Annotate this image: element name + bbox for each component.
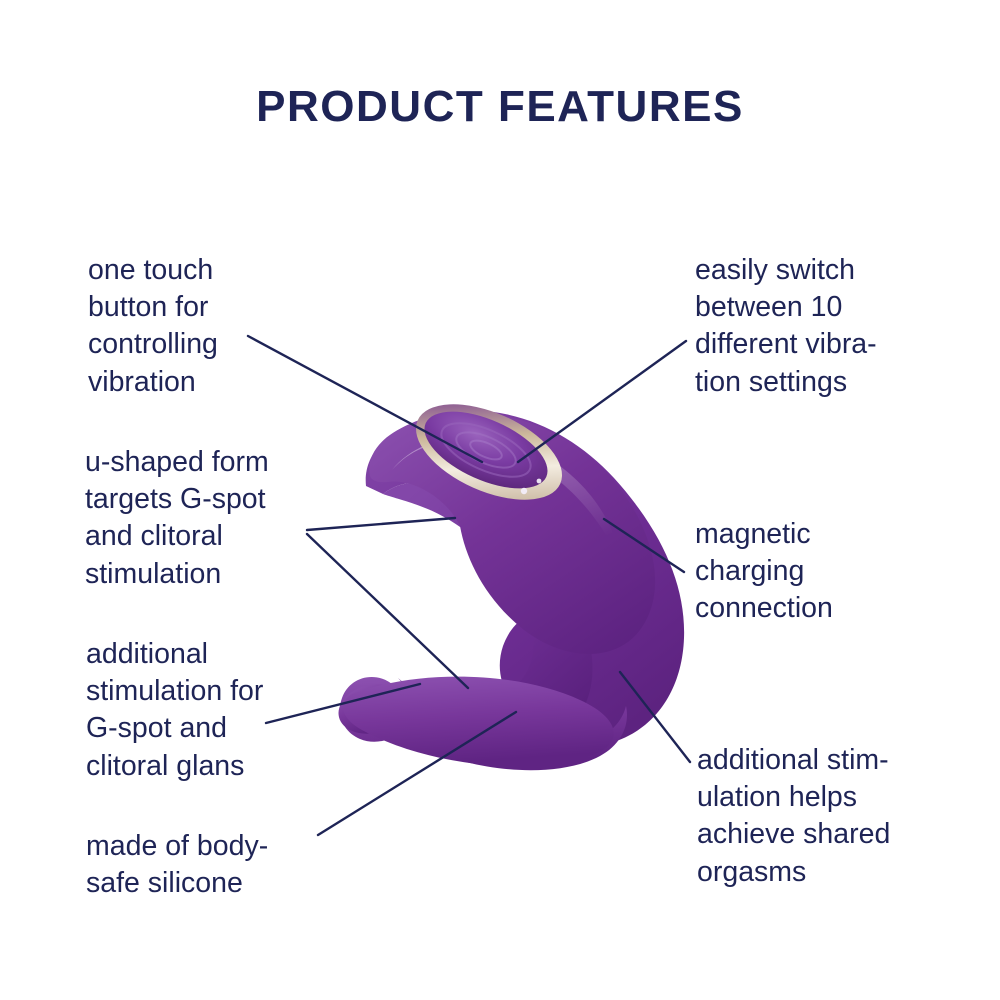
lower-arm-body: [343, 677, 614, 767]
callout-shared-orgasms: additional stim- ulation helps achieve s…: [697, 742, 955, 891]
u-bend: [383, 482, 592, 744]
button-ring-outer: [434, 412, 538, 488]
product-features-infographic: PRODUCT FEATURES: [0, 0, 1000, 1000]
upper-arm: [366, 411, 684, 747]
callout-magnetic-charging: magnetic charging connection: [695, 516, 945, 628]
line-magnetic-charging: [604, 519, 684, 572]
callout-additional-stimulation-gspot: additional stimulation for G-spot and cl…: [86, 636, 336, 785]
body-gloss: [392, 436, 620, 562]
line-vibration-settings: [518, 341, 686, 462]
callout-u-shaped-form: u-shaped form targets G-spot and clitora…: [85, 444, 330, 593]
charging-contact-2: [537, 479, 542, 484]
page-title: PRODUCT FEATURES: [0, 82, 1000, 132]
upper-shell: [369, 413, 655, 654]
callout-vibration-settings: easily switch between 10 different vibra…: [695, 252, 945, 401]
button-bezel: [402, 385, 576, 520]
button-ring-mid: [451, 425, 520, 475]
charging-contact-1: [521, 488, 527, 494]
button-ring-inner: [468, 437, 505, 464]
control-button: [414, 396, 559, 505]
line-body-safe: [318, 712, 516, 835]
callout-body-safe-silicone: made of body- safe silicone: [86, 828, 336, 902]
lower-arm-tip: [333, 677, 411, 740]
line-shared-orgasms: [620, 672, 690, 762]
product-body: [333, 385, 684, 771]
callout-one-touch-button: one touch button for controlling vibrati…: [88, 252, 318, 401]
lower-arm: [340, 677, 627, 770]
